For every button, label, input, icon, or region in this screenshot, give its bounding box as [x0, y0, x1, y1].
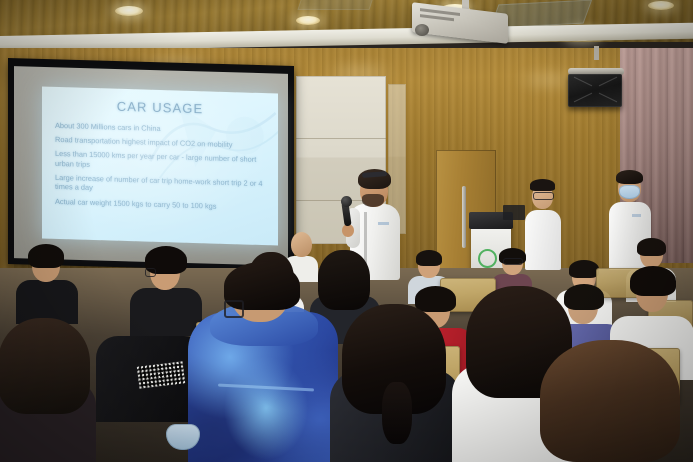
audience-member-hoodie — [188, 268, 338, 462]
speaker-grille-line — [574, 93, 592, 103]
audience-hair-braid — [382, 382, 412, 444]
audience-hair-brown — [540, 340, 680, 462]
wall-light-reflection — [520, 74, 575, 86]
door-handle[interactable] — [462, 186, 466, 248]
microphone-head-icon — [341, 196, 352, 207]
ceiling-air-vent-panel — [297, 0, 374, 10]
ceiling-downlight — [648, 1, 674, 10]
staff-man-hair — [616, 170, 643, 184]
audience-glasses-icon — [145, 268, 156, 277]
audience-hair — [416, 250, 442, 266]
presenter-shirt-pocket — [378, 222, 389, 225]
audience-hair — [28, 244, 64, 268]
audience-member — [16, 246, 78, 322]
slide-bullet-list: About 300 Millions cars in China Road tr… — [55, 121, 269, 213]
projector-lens — [415, 24, 429, 36]
slide-content: CAR USAGE About 300 Millions cars in Chi… — [42, 86, 278, 245]
speaker-grille-line — [599, 93, 617, 103]
slide-bullet: Road transportation highest impact of CO… — [55, 135, 269, 151]
slide-bullet: Actual car weight 1500 kgs to carry 50 t… — [55, 196, 269, 212]
speaker-grille-line — [574, 77, 592, 87]
wall-speaker — [568, 74, 622, 107]
ceiling-downlight — [296, 16, 320, 25]
staff-woman-glasses-icon — [533, 192, 554, 200]
audience-hair — [630, 266, 676, 296]
speaker-grille-line — [599, 77, 617, 87]
audience-member-masked — [330, 304, 460, 462]
speaker-mount-stem — [594, 46, 599, 60]
audience-member — [540, 340, 680, 462]
staff-woman-hair-front — [530, 179, 555, 191]
ceiling-downlight — [115, 6, 143, 16]
wall-panel-seam — [296, 138, 386, 139]
audience-hair — [569, 260, 599, 278]
audience-glasses-icon — [224, 300, 244, 318]
audience-hair — [637, 238, 666, 256]
presenter-hand — [342, 224, 354, 237]
lecture-hall-scene: CAR USAGE About 300 Millions cars in Chi… — [0, 0, 693, 462]
slide-bullet: Less than 15000 kms per year per car - l… — [55, 149, 269, 175]
audience-hair — [0, 318, 90, 414]
staff-man-shirt-pocket — [632, 214, 641, 217]
audience-member — [0, 318, 96, 462]
presenter-beard — [362, 194, 384, 207]
slide-bullet: Large increase of number of car trip hom… — [55, 173, 269, 199]
staff-man-face-mask — [619, 185, 640, 199]
projector-vent — [420, 14, 454, 21]
audience-glasses-icon — [503, 258, 523, 265]
